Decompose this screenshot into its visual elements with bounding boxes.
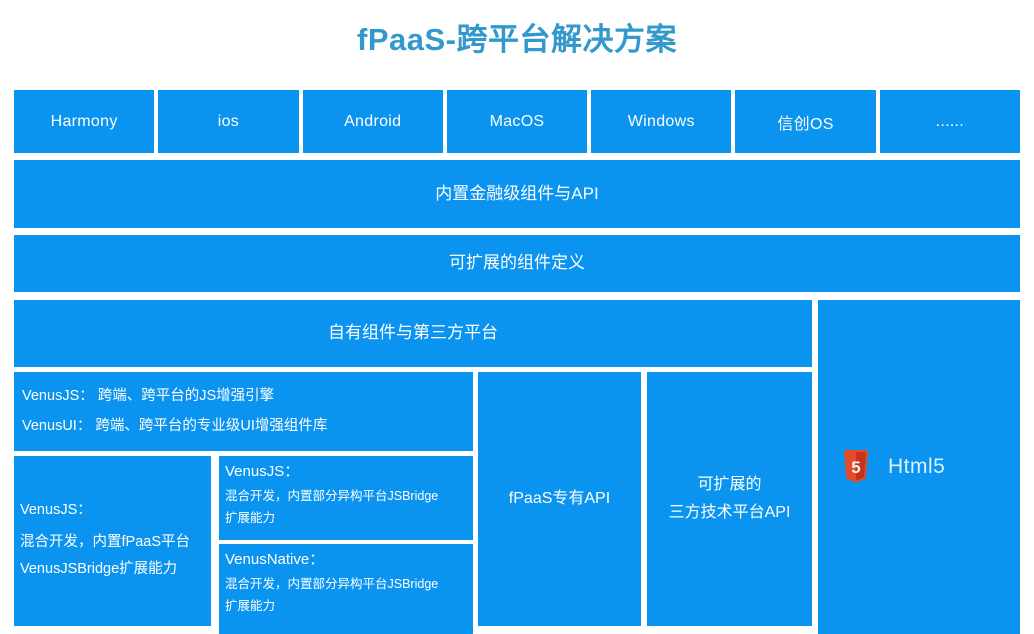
band-extensible-definition[interactable]: 可扩展的组件定义 [14,235,1020,292]
cell-body-line1: 混合开发，内置部分异构平台JSBridge [225,574,438,596]
html5-shield-icon: 5 [842,450,870,484]
page-title: fPaaS-跨平台解决方案 [0,14,1034,59]
os-cell-label: ios [218,113,239,131]
os-cell-label: 信创OS [777,110,833,134]
os-cell-label: Windows [628,113,695,131]
os-cell-label: MacOS [490,113,545,131]
cell-body-line2: VenusJSBridge扩展能力 [20,556,177,583]
cell-body-line2: 扩展能力 [225,596,275,618]
box-venusnative-hybrid[interactable]: VenusNative： 混合开发，内置部分异构平台JSBridge 扩展能力 [219,544,473,634]
box-venus-library[interactable]: VenusJS： 跨端、跨平台的JS增强引擎 VenusUI： 跨端、跨平台的专… [14,372,473,451]
band-builtin-components[interactable]: 内置金融级组件与API [14,160,1020,228]
cell-body-line1: 混合开发，内置部分异构平台JSBridge [225,486,438,508]
diagram-canvas: fPaaS-跨平台解决方案 Harmony ios Android MacOS … [0,0,1034,634]
os-cell-windows[interactable]: Windows [591,90,731,153]
os-cell-harmony[interactable]: Harmony [14,90,154,153]
venus-library-line-venusui: VenusUI： 跨端、跨平台的专业级UI增强组件库 [22,417,327,437]
band-label: 自有组件与第三方平台 [328,322,498,345]
box-venusjs-hybrid-mid[interactable]: VenusJS： 混合开发，内置部分异构平台JSBridge 扩展能力 [219,456,473,540]
os-cell-label: Android [344,113,401,131]
svg-text:5: 5 [851,458,860,477]
os-cell-more[interactable]: ...... [880,90,1020,153]
os-platform-row: Harmony ios Android MacOS Windows 信创OS .… [14,90,1020,153]
cell-body-line1: 混合开发，内置fPaaS平台 [20,529,190,556]
html5-label: Html5 [888,453,945,481]
os-cell-ios[interactable]: ios [158,90,298,153]
column-label-line1: 可扩展的 [697,474,761,496]
cell-heading: VenusJS： [20,501,92,521]
column-fpaas-api[interactable]: fPaaS专有API [478,372,641,626]
column-label-line2: 三方技术平台API [669,502,791,524]
os-cell-android[interactable]: Android [303,90,443,153]
box-venusjs-hybrid-left[interactable]: VenusJS： 混合开发，内置fPaaS平台 VenusJSBridge扩展能… [14,456,211,626]
cell-heading: VenusNative： [225,550,324,570]
os-cell-xinchuang-os[interactable]: 信创OS [735,90,875,153]
panel-html5[interactable]: 5 Html5 [818,300,1020,634]
band-label: 内置金融级组件与API [435,183,598,206]
cell-heading: VenusJS： [225,462,299,482]
band-own-and-thirdparty[interactable]: 自有组件与第三方平台 [14,300,812,367]
column-label: fPaaS专有API [509,488,610,510]
os-cell-label: Harmony [51,113,118,131]
band-label: 可扩展的组件定义 [449,252,585,275]
column-thirdparty-api[interactable]: 可扩展的 三方技术平台API [647,372,812,626]
html5-badge: 5 Html5 [842,450,945,484]
os-cell-macos[interactable]: MacOS [447,90,587,153]
venus-library-line-venusjs: VenusJS： 跨端、跨平台的JS增强引擎 [22,387,274,407]
os-cell-label: ...... [936,113,964,131]
cell-body-line2: 扩展能力 [225,508,275,530]
